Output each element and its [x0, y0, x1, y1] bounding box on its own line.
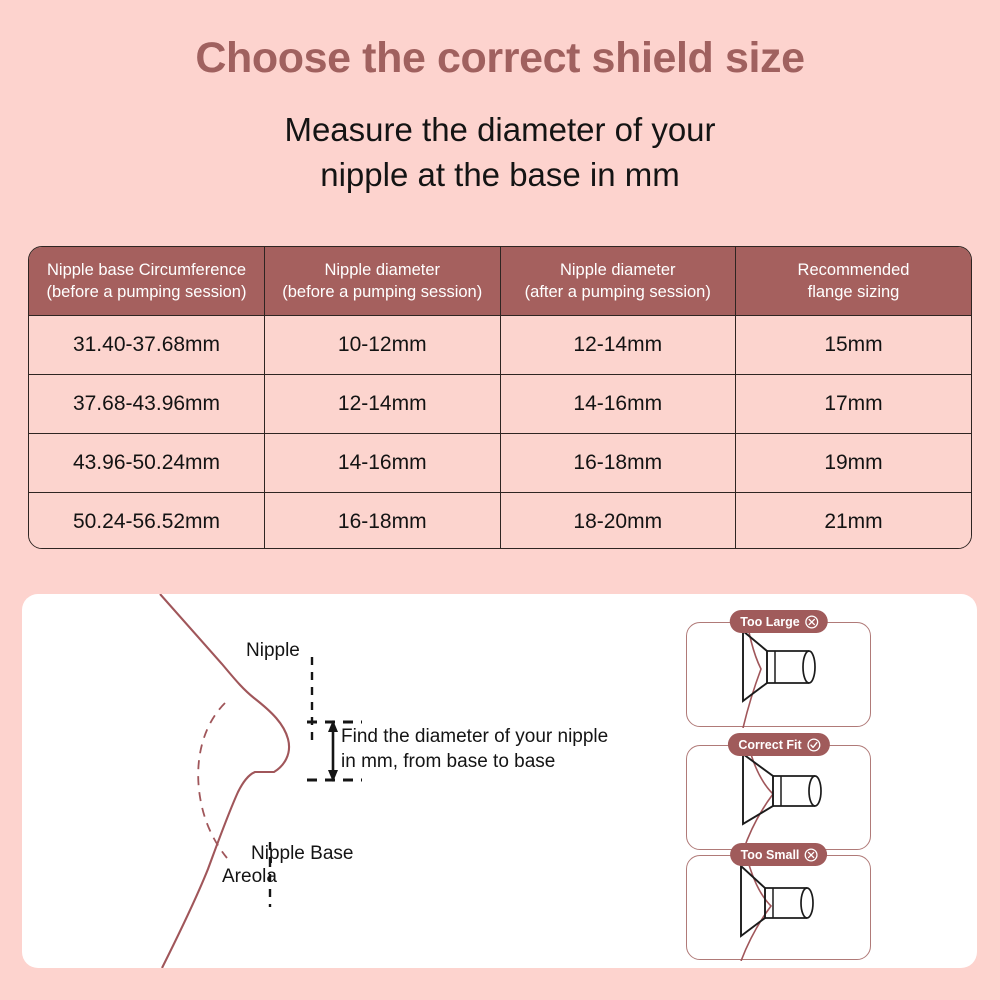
header-line-1: Nipple diameter	[324, 261, 440, 279]
table-row: 37.68-43.96mm 12-14mm 14-16mm 17mm	[29, 374, 971, 433]
flange-tube-end-correct-fit	[809, 776, 821, 806]
fit-card-correct-fit: Correct Fit	[686, 745, 871, 850]
flange-tube-end-too-small	[801, 888, 813, 918]
subtitle-line-1: Measure the diameter of your	[284, 111, 715, 148]
breast-contour-correct-fit	[743, 746, 773, 851]
cell-diameter-before: 14-16mm	[265, 433, 501, 492]
header-line-2: (before a pumping session)	[47, 283, 247, 301]
cell-diameter-after: 14-16mm	[500, 374, 736, 433]
fit-card-too-large: Too Large	[686, 622, 871, 727]
table-header-row: Nipple base Circumference (before a pump…	[29, 247, 971, 315]
x-circle-icon	[804, 848, 818, 862]
flange-too-large-art	[687, 623, 872, 728]
label-nipple-base: Nipple Base	[251, 843, 353, 865]
flange-too-small-art	[687, 856, 872, 961]
sizing-table: Nipple base Circumference (before a pump…	[29, 247, 971, 549]
cell-diameter-before: 16-18mm	[265, 492, 501, 549]
flange-correct-fit-art	[687, 746, 872, 851]
header-line-2: (before a pumping session)	[282, 283, 482, 301]
label-areola: Areola	[222, 866, 277, 888]
subtitle-line-2: nipple at the base in mm	[320, 156, 680, 193]
cell-circumference: 37.68-43.96mm	[29, 374, 265, 433]
instruction-line-1: Find the diameter of your nipple	[341, 726, 608, 747]
status-badge-correct-fit: Correct Fit	[727, 733, 829, 756]
column-header-diameter-after: Nipple diameter (after a pumping session…	[500, 247, 736, 315]
cell-circumference: 31.40-37.68mm	[29, 315, 265, 374]
cell-diameter-after: 18-20mm	[500, 492, 736, 549]
infographic-page: Choose the correct shield size Measure t…	[0, 0, 1000, 1000]
status-badge-too-large: Too Large	[729, 610, 828, 633]
illustration-panel: Too Large Correct Fit	[22, 594, 977, 968]
header-line-2: flange sizing	[808, 283, 900, 301]
flange-tube-end-too-large	[803, 651, 815, 683]
cell-circumference: 43.96-50.24mm	[29, 433, 265, 492]
header-line-1: Recommended	[798, 261, 910, 279]
cell-circumference: 50.24-56.52mm	[29, 492, 265, 549]
fit-card-label: Correct Fit	[738, 738, 801, 752]
fit-card-too-small: Too Small	[686, 855, 871, 960]
table-row: 43.96-50.24mm 14-16mm 16-18mm 19mm	[29, 433, 971, 492]
header-line-2: (after a pumping session)	[525, 283, 711, 301]
cell-diameter-before: 12-14mm	[265, 374, 501, 433]
measurement-instruction: Find the diameter of your nipple in mm, …	[341, 724, 608, 774]
flange-funnel-too-small	[741, 866, 765, 936]
instruction-line-2: in mm, from base to base	[341, 751, 555, 772]
check-circle-icon	[807, 738, 821, 752]
page-title: Choose the correct shield size	[0, 34, 1000, 83]
page-subtitle: Measure the diameter of your nipple at t…	[0, 107, 1000, 197]
column-header-circumference: Nipple base Circumference (before a pump…	[29, 247, 265, 315]
cell-diameter-after: 16-18mm	[500, 433, 736, 492]
header-line-1: Nipple diameter	[560, 261, 676, 279]
label-nipple: Nipple	[246, 640, 300, 662]
cell-diameter-before: 10-12mm	[265, 315, 501, 374]
sizing-table-container: Nipple base Circumference (before a pump…	[28, 246, 972, 549]
cell-flange-size: 17mm	[736, 374, 972, 433]
table-row: 31.40-37.68mm 10-12mm 12-14mm 15mm	[29, 315, 971, 374]
flange-funnel-too-large	[743, 631, 767, 701]
breast-contour-too-small	[741, 856, 771, 961]
column-header-flange-sizing: Recommended flange sizing	[736, 247, 972, 315]
status-badge-too-small: Too Small	[730, 843, 828, 866]
fit-card-label: Too Large	[740, 615, 800, 629]
cell-diameter-after: 12-14mm	[500, 315, 736, 374]
header-line-1: Nipple base Circumference	[47, 261, 246, 279]
cell-flange-size: 15mm	[736, 315, 972, 374]
cell-flange-size: 19mm	[736, 433, 972, 492]
areola-dashed-arc	[198, 703, 227, 858]
fit-card-label: Too Small	[741, 848, 800, 862]
x-circle-icon	[805, 615, 819, 629]
cell-flange-size: 21mm	[736, 492, 972, 549]
table-row: 50.24-56.52mm 16-18mm 18-20mm 21mm	[29, 492, 971, 549]
column-header-diameter-before: Nipple diameter (before a pumping sessio…	[265, 247, 501, 315]
